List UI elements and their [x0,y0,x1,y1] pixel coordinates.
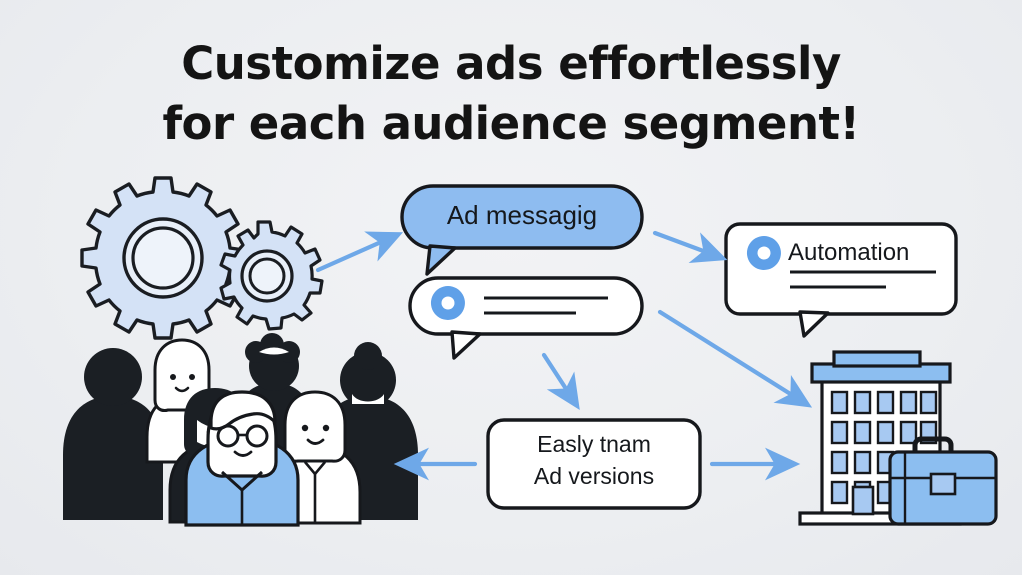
infographic-canvas: Customize ads effortlessly for each audi… [0,0,1022,575]
automation-bubble[interactable] [726,224,956,336]
chat-pin-icon [431,286,465,320]
arrow-gears-to-ad-message [318,238,390,270]
gear-small-icon [221,222,322,329]
chat-pin-icon [747,236,781,270]
ad-versions-box[interactable] [488,420,700,508]
arrow-bubble-to-versions [544,355,572,398]
diagram-scene [0,0,1022,575]
ad-message-bubble[interactable] [402,186,642,274]
gears-illustration [82,178,322,338]
briefcase-icon [890,439,996,524]
audience-people-group [63,333,418,525]
message-lines-bubble[interactable] [410,278,642,358]
office-building [800,352,996,524]
arrow-ad-message-to-automation [655,233,714,255]
arrow-bubble-to-building [660,312,800,400]
gear-large-icon [82,178,244,338]
